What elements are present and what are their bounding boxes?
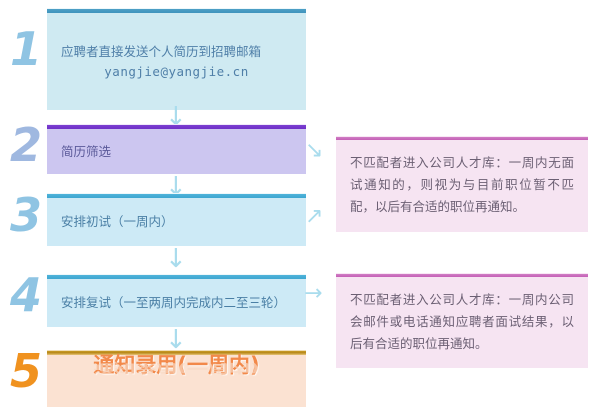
step-1-line-1: 应聘者直接发送个人简历到招聘邮箱 [61, 42, 292, 62]
flow-step-box-3[interactable]: 安排初试（一周内） [47, 193, 306, 247]
step-2-body: 简历筛选 [47, 129, 306, 174]
step-5-body: 通知录用(一周内) 通知录用(一周内) [47, 355, 306, 407]
flow-step-box-5[interactable]: 通知录用(一周内) 通知录用(一周内) [47, 350, 306, 408]
arrow-diagonal-step2-to-note1: ↘ [305, 140, 323, 162]
step-number-1: 1 [10, 26, 42, 72]
step-number-4: 4 [10, 272, 42, 318]
step-number-3: 3 [10, 192, 42, 238]
step-number-5: 5 [10, 348, 42, 394]
flow-step-box-4[interactable]: 安排复试（一至两周内完成内二至三轮） [47, 274, 306, 328]
step-1-body: 应聘者直接发送个人简历到招聘邮箱 yangjie@yangjie.cn [47, 13, 306, 110]
step-3-body: 安排初试（一周内） [47, 198, 306, 246]
step-1-line-2: yangjie@yangjie.cn [61, 62, 292, 82]
step-4-body: 安排复试（一至两周内完成内二至三轮） [47, 279, 306, 327]
note-box-1[interactable]: 不匹配者进入公司人才库：一周内无面试通知的，则视为与目前职位暂不匹配，以后有合适… [336, 136, 588, 233]
step-5-reflection-text: 通知录用(一周内) [61, 361, 292, 378]
step-number-2: 2 [10, 122, 42, 168]
note-1-text: 不匹配者进入公司人才库：一周内无面试通知的，则视为与目前职位暂不匹配，以后有合适… [336, 140, 588, 232]
arrow-right-step4-to-note2: → [304, 283, 322, 305]
recruitment-flow-diagram: 1 应聘者直接发送个人简历到招聘邮箱 yangjie@yangjie.cn ↓ … [0, 0, 609, 416]
arrow-down-step3-step4: ↓ [165, 246, 187, 272]
note-box-2[interactable]: 不匹配者进入公司人才库：一周内公司会邮件或电话通知应聘者面试结果，以后有合适的职… [336, 273, 588, 369]
arrow-diagonal-step3-to-note1: ↗ [305, 206, 323, 228]
step-4-line-1: 安排复试（一至两周内完成内二至三轮） [61, 293, 292, 313]
flow-step-box-1[interactable]: 应聘者直接发送个人简历到招聘邮箱 yangjie@yangjie.cn [47, 8, 306, 111]
step-3-line-1: 安排初试（一周内） [61, 212, 292, 232]
step-2-line-1: 简历筛选 [61, 142, 292, 162]
note-2-text: 不匹配者进入公司人才库：一周内公司会邮件或电话通知应聘者面试结果，以后有合适的职… [336, 277, 588, 368]
flow-step-box-2[interactable]: 简历筛选 [47, 124, 306, 175]
